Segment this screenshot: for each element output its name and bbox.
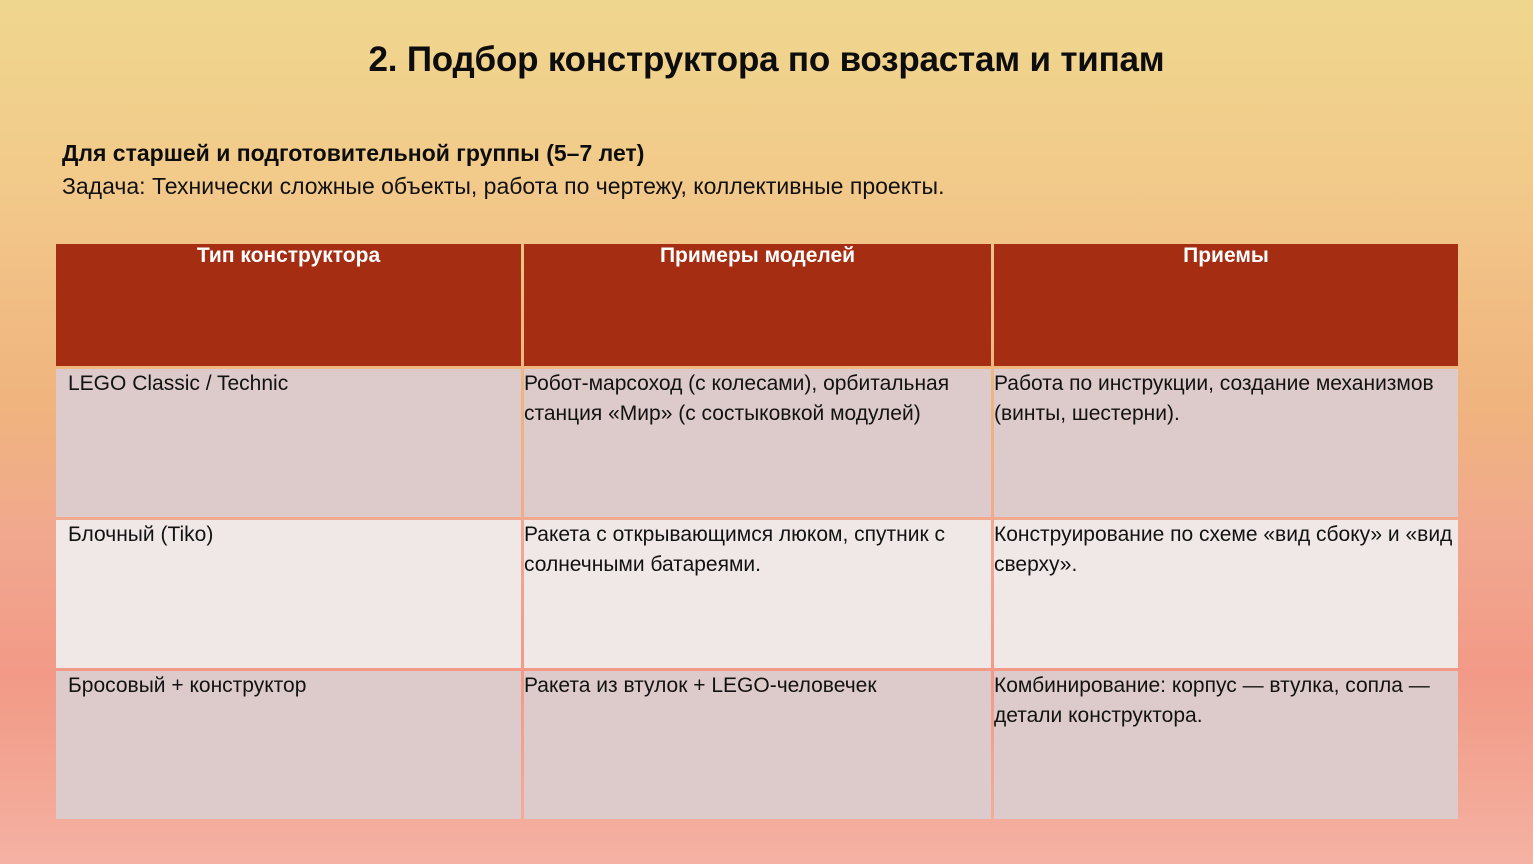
subtitle-group-heading: Для старшей и подготовительной группы (5… [62,137,1462,169]
column-header-type: Тип конструктора [56,244,521,366]
slide-canvas: 2. Подбор конструктора по возрастам и ти… [0,0,1533,864]
page-title: 2. Подбор конструктора по возрастам и ти… [0,40,1533,80]
cell-examples: Робот-марсоход (с колесами), орбитальная… [524,369,991,517]
table-header-row: Тип конструктора Примеры моделей Приемы [56,244,1458,366]
column-header-methods: Приемы [994,244,1458,366]
table-body: LEGO Classic / Technic Робот-марсоход (с… [56,369,1458,819]
cell-methods: Комбинирование: корпус — втулка, сопла —… [994,671,1458,819]
cell-type: LEGO Classic / Technic [56,369,521,517]
cell-examples: Ракета с открывающимся люком, спутник с … [524,520,991,668]
table-row: Блочный (Tiko) Ракета с открывающимся лю… [56,520,1458,668]
cell-methods: Работа по инструкции, создание механизмо… [994,369,1458,517]
subtitle-block: Для старшей и подготовительной группы (5… [62,137,1462,203]
table-header: Тип конструктора Примеры моделей Приемы [56,244,1458,366]
table-row: Бросовый + конструктор Ракета из втулок … [56,671,1458,819]
column-header-examples: Примеры моделей [524,244,991,366]
constructor-table-wrapper: Тип конструктора Примеры моделей Приемы … [53,241,1452,812]
cell-examples: Ракета из втулок + LEGO-человечек [524,671,991,819]
table-row: LEGO Classic / Technic Робот-марсоход (с… [56,369,1458,517]
constructor-table: Тип конструктора Примеры моделей Приемы … [53,241,1461,822]
cell-type: Блочный (Tiko) [56,520,521,668]
cell-type: Бросовый + конструктор [56,671,521,819]
subtitle-task-text: Задача: Технически сложные объекты, рабо… [62,169,1462,203]
cell-methods: Конструирование по схеме «вид сбоку» и «… [994,520,1458,668]
